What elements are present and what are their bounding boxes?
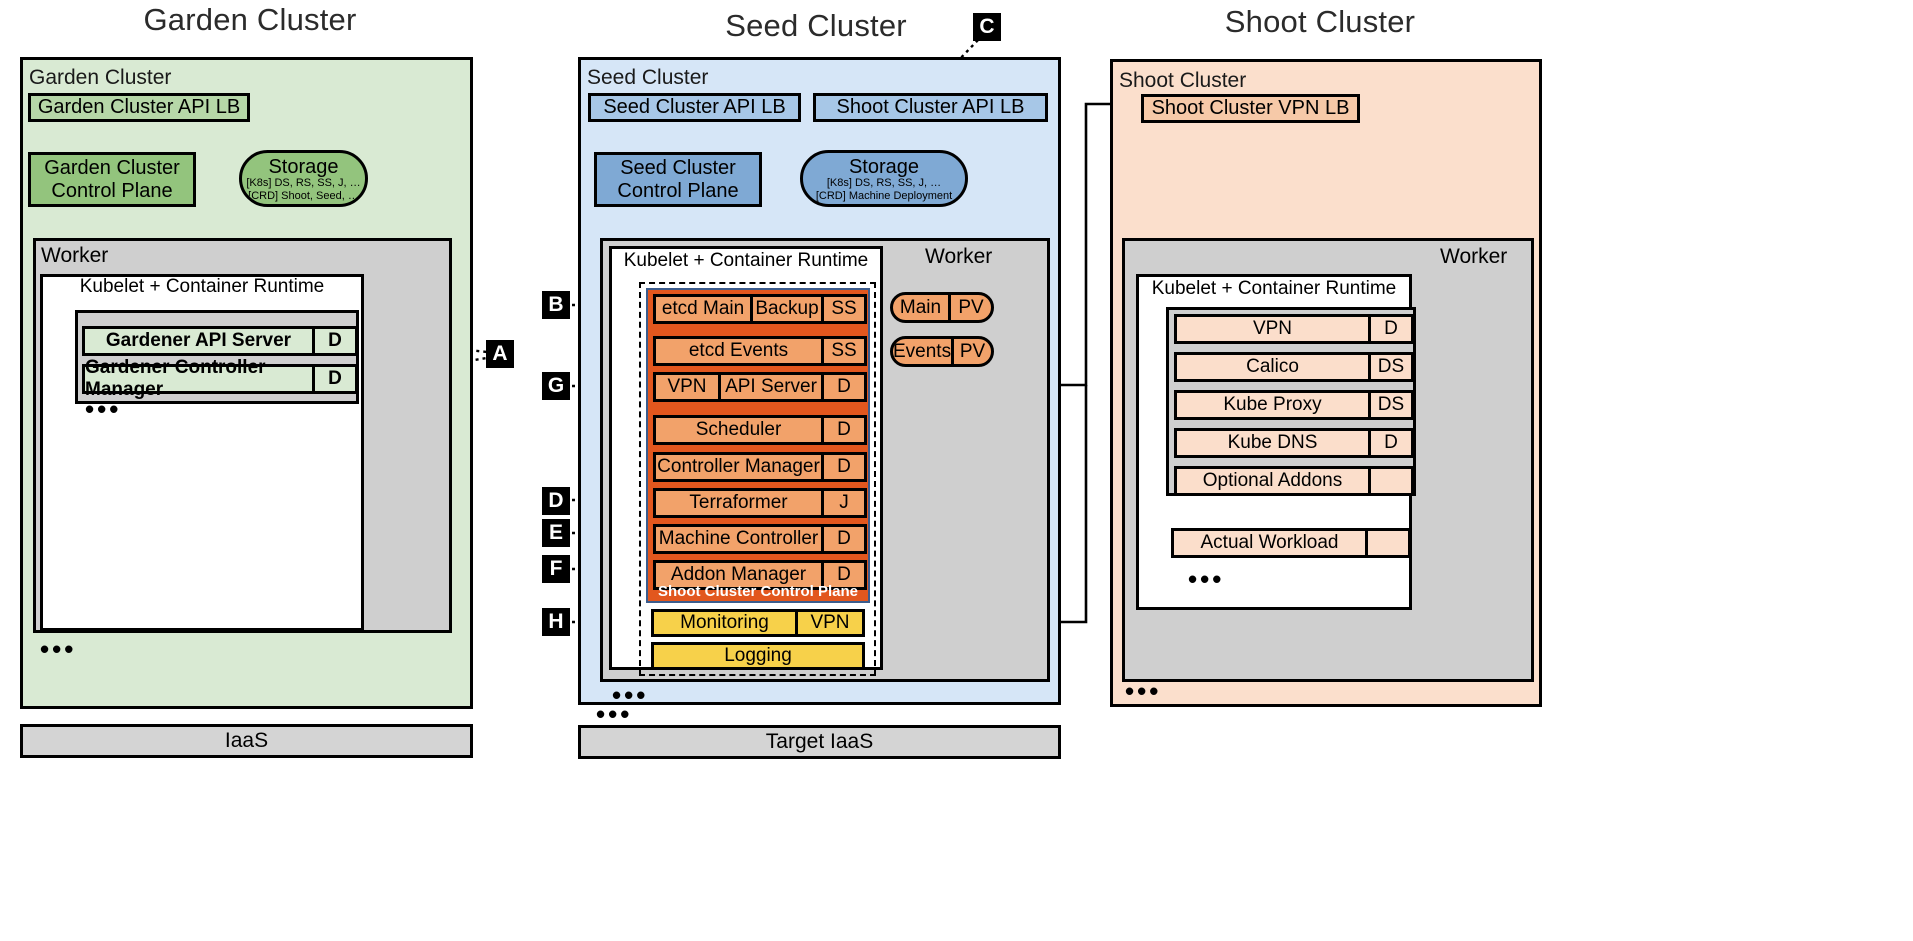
garden-control-plane-line2: Control Plane (51, 180, 172, 203)
garden-pod-group: Gardener API Server D Gardener Controlle… (75, 310, 359, 404)
seed-shoot-control-plane-group: etcd Main Backup SS etcd Events SS VPN A… (646, 288, 870, 603)
seed-volume-1: Events PV (890, 336, 994, 367)
shoot-pod-row-4[interactable]: Optional Addons (1174, 466, 1414, 496)
seed-pod-name-5: Terraformer (656, 491, 821, 515)
shoot-vpn-lb[interactable]: Shoot Cluster VPN LB (1141, 94, 1360, 123)
garden-control-plane-line1: Garden Cluster (44, 157, 180, 180)
seed-control-plane[interactable]: Seed Cluster Control Plane (594, 152, 762, 207)
tag-g: G (542, 372, 570, 400)
shoot-pod-kind-1: DS (1368, 355, 1411, 379)
garden-worker-dots: ••• (40, 642, 76, 658)
seed-pod-name-1: etcd Events (656, 339, 821, 363)
seed-control-plane-band-label: Shoot Cluster Control Plane (648, 583, 868, 600)
seed-volume-kind-0: PV (948, 295, 991, 320)
shoot-pod-name-1: Calico (1177, 355, 1368, 379)
shoot-pod-name-2: Kube Proxy (1177, 393, 1368, 417)
seed-volume-0: Main PV (890, 292, 994, 323)
tag-h: H (542, 608, 570, 636)
seed-pod-row-5[interactable]: Terraformer J (653, 488, 867, 518)
shoot-pod-kind-4 (1368, 469, 1411, 493)
tag-f: F (542, 555, 570, 583)
seed-pod-kind-2: D (821, 375, 864, 399)
shoot-pod-group: VPN D Calico DS Kube Proxy DS Kube DNS D… (1166, 307, 1416, 496)
seed-storage-line2: [CRD] Machine Deployment (816, 190, 952, 203)
garden-storage-line2: [CRD] Shoot, Seed, … (248, 190, 359, 203)
seed-pod-name-2: API Server (721, 375, 821, 399)
seed-storage-line1: [K8s] DS, RS, SS, J, … (827, 177, 941, 190)
seed-storage-title: Storage (849, 157, 919, 177)
shoot-pod-name-4: Optional Addons (1177, 469, 1368, 493)
tag-e: E (542, 519, 570, 547)
seed-observability-row-0[interactable]: Monitoring VPN (651, 609, 865, 637)
shoot-worker-label: Worker (1440, 245, 1507, 269)
shoot-workload-name: Actual Workload (1174, 531, 1365, 555)
garden-iaas: IaaS (20, 724, 473, 758)
garden-cluster-label: Garden Cluster (29, 66, 171, 90)
shoot-pod-row-1[interactable]: Calico DS (1174, 352, 1414, 382)
seed-observability-name-0: Monitoring (654, 612, 795, 634)
garden-kubelet-label: Kubelet + Container Runtime (40, 276, 364, 298)
garden-storage-title: Storage (268, 157, 338, 177)
seed-pod-kind-3: D (821, 418, 864, 442)
seed-control-plane-line2: Control Plane (617, 180, 738, 203)
shoot-pod-kind-3: D (1368, 431, 1411, 455)
seed-volume-name-0: Main (893, 297, 948, 319)
shoot-pod-row-3[interactable]: Kube DNS D (1174, 428, 1414, 458)
garden-pod-row-0[interactable]: Gardener API Server D (82, 326, 358, 356)
seed-pod-row-4[interactable]: Controller Manager D (653, 452, 867, 482)
seed-pod-kind-1: SS (821, 339, 864, 363)
seed-pod-name-0: etcd Main (656, 297, 750, 321)
shoot-worker-dots: ••• (1125, 684, 1161, 700)
tag-b: B (542, 291, 570, 319)
garden-storage: Storage [K8s] DS, RS, SS, J, … [CRD] Sho… (239, 150, 368, 207)
garden-api-lb[interactable]: Garden Cluster API LB (28, 93, 250, 122)
seed-worker-label: Worker (925, 245, 992, 269)
seed-pod-name-6: Machine Controller (656, 527, 821, 551)
garden-worker-label: Worker (41, 244, 108, 268)
seed-pod-kind-6: D (821, 527, 864, 551)
garden-cluster-title: Garden Cluster (20, 2, 480, 38)
garden-pod-name-1: Gardener Controller Manager (85, 367, 312, 391)
shoot-pod-dots: ••• (1188, 572, 1224, 588)
shoot-api-lb[interactable]: Shoot Cluster API LB (813, 93, 1048, 122)
seed-storage: Storage [K8s] DS, RS, SS, J, … [CRD] Mac… (800, 150, 968, 207)
garden-pod-dots: ••• (85, 402, 121, 418)
shoot-pod-name-3: Kube DNS (1177, 431, 1368, 455)
seed-pod-kind-4: D (821, 455, 864, 479)
shoot-kubelet-label: Kubelet + Container Runtime (1136, 278, 1412, 300)
seed-pod-kind-5: J (821, 491, 864, 515)
garden-storage-line1: [K8s] DS, RS, SS, J, … (246, 177, 360, 190)
seed-pod-kind-0: SS (821, 297, 864, 321)
seed-observability-row-1[interactable]: Logging (651, 642, 865, 670)
seed-volume-name-1: Events (893, 341, 951, 363)
shoot-workload-kind (1365, 531, 1408, 555)
shoot-pod-row-0[interactable]: VPN D (1174, 314, 1414, 344)
seed-pod-row-6[interactable]: Machine Controller D (653, 524, 867, 554)
shoot-workload-row[interactable]: Actual Workload (1171, 528, 1411, 558)
seed-control-plane-line1: Seed Cluster (620, 157, 736, 180)
garden-pod-kind-1: D (312, 367, 355, 391)
seed-pod-extra-2: VPN (656, 375, 721, 399)
seed-pod-row-0[interactable]: etcd Main Backup SS (653, 294, 867, 324)
tag-a: A (486, 340, 514, 368)
seed-cluster-dots: ••• (596, 707, 632, 723)
seed-pod-name-3: Scheduler (656, 418, 821, 442)
tag-c: C (973, 13, 1001, 41)
seed-cluster-label: Seed Cluster (587, 66, 708, 90)
seed-kubelet-label: Kubelet + Container Runtime (609, 250, 883, 272)
seed-observability-name-1: Logging (654, 645, 862, 667)
seed-pod-name-4: Controller Manager (656, 455, 821, 479)
seed-pod-extra-0: Backup (750, 297, 821, 321)
seed-iaas: Target IaaS (578, 725, 1061, 759)
seed-pod-row-1[interactable]: etcd Events SS (653, 336, 867, 366)
shoot-cluster-title: Shoot Cluster (1110, 4, 1530, 40)
seed-api-lb[interactable]: Seed Cluster API LB (588, 93, 801, 122)
shoot-cluster-label: Shoot Cluster (1119, 69, 1246, 93)
shoot-pod-kind-2: DS (1368, 393, 1411, 417)
garden-pod-name-0: Gardener API Server (85, 329, 312, 353)
shoot-pod-name-0: VPN (1177, 317, 1368, 341)
tag-d: D (542, 487, 570, 515)
garden-control-plane[interactable]: Garden Cluster Control Plane (28, 152, 196, 207)
seed-pod-row-3[interactable]: Scheduler D (653, 415, 867, 445)
seed-pod-row-2[interactable]: VPN API Server D (653, 372, 867, 402)
seed-observability-extra-0: VPN (795, 612, 862, 634)
shoot-pod-row-2[interactable]: Kube Proxy DS (1174, 390, 1414, 420)
garden-pod-row-1[interactable]: Gardener Controller Manager D (82, 364, 358, 394)
seed-volume-kind-1: PV (951, 339, 991, 364)
garden-pod-kind-0: D (312, 329, 355, 353)
shoot-pod-kind-0: D (1368, 317, 1411, 341)
